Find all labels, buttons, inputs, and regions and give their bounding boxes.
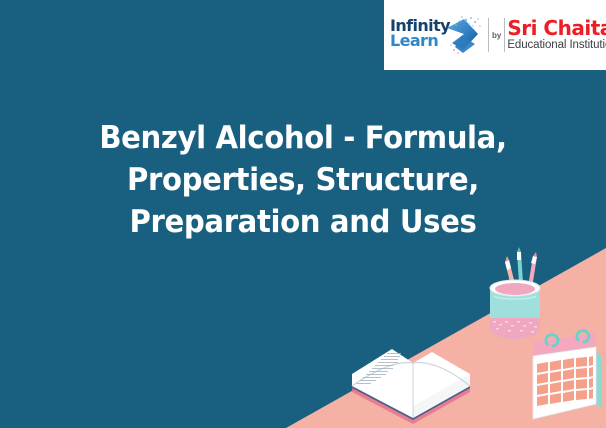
poster-canvas: Infinity Learn [0, 0, 606, 428]
infinity-learn-wordmark: Infinity Learn [390, 19, 450, 48]
divider-right [504, 18, 505, 52]
sri-chaitanya-title: Sri Chaitanya [507, 18, 606, 38]
arrow-swoosh-icon [442, 14, 488, 58]
divider-left [488, 18, 489, 52]
by-label: by [492, 31, 501, 40]
sri-chaitanya-logo[interactable]: Sri Chaitanya Educational Institutions [507, 18, 606, 52]
learn-text: Learn [390, 34, 450, 49]
infinity-learn-logo[interactable]: Infinity Learn [390, 12, 488, 58]
page-title: Benzyl Alcohol - Formula, Properties, St… [18, 117, 588, 243]
logo-connector: by [488, 15, 505, 55]
logo-lockup[interactable]: Infinity Learn [382, 0, 606, 72]
sri-chaitanya-subtitle: Educational Institutions [507, 40, 606, 52]
